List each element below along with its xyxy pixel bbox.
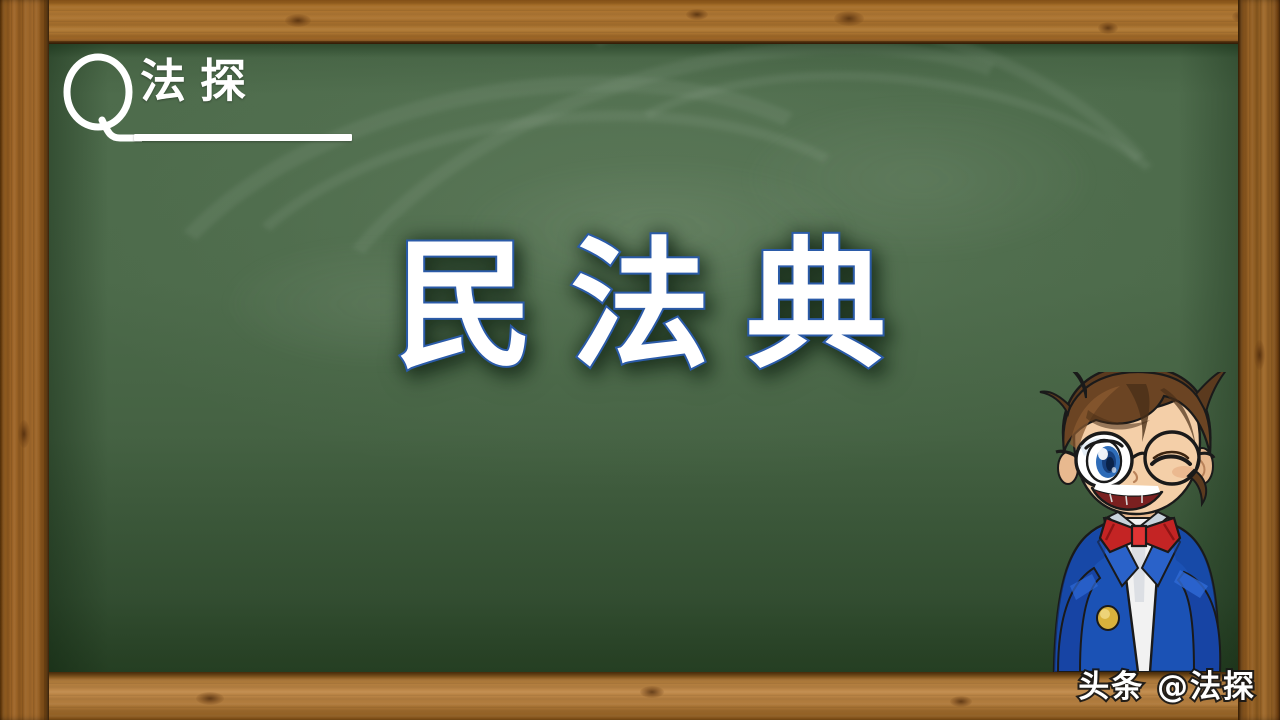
wood-knot-icon: [834, 11, 864, 26]
brand-logo[interactable]: 法探: [58, 52, 308, 144]
slide-canvas: 法探 民法典: [0, 0, 1280, 720]
wood-knot-icon: [1098, 22, 1118, 34]
wood-knot-icon: [18, 420, 30, 448]
brand-logo-text: 法探: [140, 58, 260, 104]
wood-knot-icon: [950, 696, 972, 707]
letter-q-icon: [58, 52, 142, 144]
wood-knot-icon: [640, 686, 664, 698]
wood-knot-icon: [285, 14, 311, 27]
wood-knot-icon: [196, 692, 224, 705]
wood-knot-icon: [686, 9, 708, 20]
brand-logo-underline: [134, 134, 352, 141]
watermark-text: 头条 @法探: [1078, 661, 1256, 706]
slide-title: 民法典: [0, 236, 1280, 379]
wood-rail-top: [0, 0, 1280, 44]
